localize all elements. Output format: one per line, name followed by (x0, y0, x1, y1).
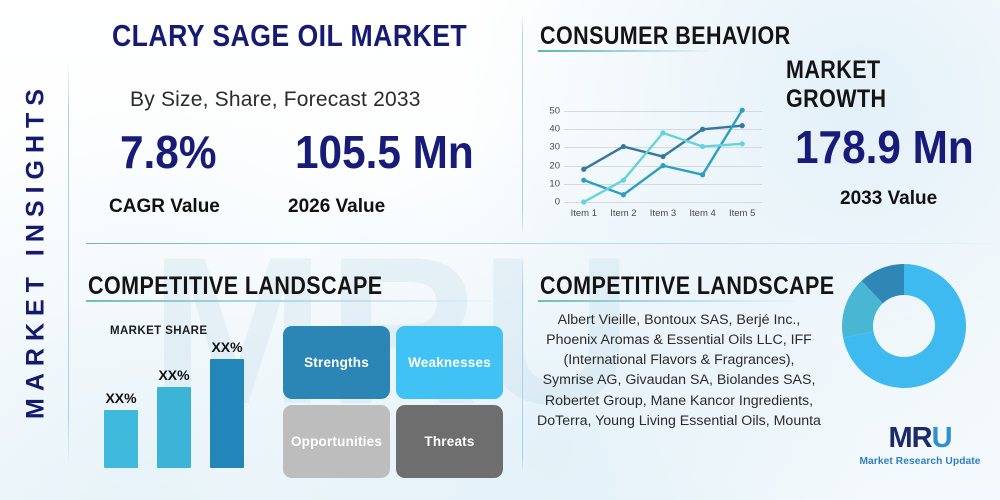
logo-wordmark: MRU (852, 424, 988, 453)
cagr-label: CAGR Value (109, 196, 220, 218)
logo-mark-dark: MR (888, 422, 931, 454)
page-subtitle: By Size, Share, Forecast 2033 (130, 88, 421, 112)
data-point (621, 192, 626, 197)
mru-logo: MRU Market Research Update (852, 424, 988, 467)
bar-value-label: XX% (150, 367, 198, 383)
data-point (581, 167, 586, 172)
bar-value-label: XX% (203, 339, 251, 355)
consumer-behavior-line-chart: 01020304050Item 1Item 2Item 3Item 4Item … (540, 96, 770, 224)
vertical-divider-bottom (522, 262, 523, 474)
market-insights-rail-label: MARKET INSIGHTS (22, 51, 51, 451)
consumer-behavior-underline (538, 50, 710, 52)
competitive-landscape-left-underline (86, 300, 492, 302)
data-point (621, 178, 626, 183)
bar-value-label: XX% (97, 390, 145, 406)
swot-cell-weaknesses[interactable]: Weaknesses (396, 326, 503, 399)
data-point (660, 130, 665, 135)
data-point (700, 144, 705, 149)
bar (210, 359, 244, 468)
value-2026-label: 2026 Value (288, 196, 385, 218)
data-point (621, 144, 626, 149)
company-list: Albert Vieille, Bontoux SAS, Berjé Inc.,… (536, 310, 822, 431)
market-share-title: MARKET SHARE (110, 325, 207, 337)
data-point (700, 172, 705, 177)
data-point (581, 178, 586, 183)
swot-cell-strengths[interactable]: Strengths (283, 326, 390, 399)
logo-mark-accent: U (932, 422, 952, 454)
horizontal-divider (86, 243, 994, 244)
data-point (660, 163, 665, 168)
swot-cell-opportunities[interactable]: Opportunities (283, 405, 390, 478)
data-point (581, 199, 586, 204)
infographic-canvas: MRU MARKET INSIGHTS CLARY SAGE OIL MARKE… (0, 0, 1000, 500)
section-heading-competitive-landscape-left: COMPETITIVE LANDSCAPE (88, 272, 383, 301)
page-title: CLARY SAGE OIL MARKET (112, 18, 467, 54)
data-point (700, 127, 705, 132)
value-2033: 178.9 Mn (795, 120, 974, 174)
section-heading-consumer-behavior: CONSUMER BEHAVIOR (540, 22, 791, 51)
vertical-divider-top (522, 14, 523, 232)
data-point (740, 141, 745, 146)
section-heading-competitive-landscape-right: COMPETITIVE LANDSCAPE (540, 272, 835, 301)
swot-cell-threats[interactable]: Threats (396, 405, 503, 478)
left-rail-divider (68, 62, 69, 466)
value-2026: 105.5 Mn (295, 125, 474, 179)
line-series (584, 110, 742, 195)
data-point (740, 108, 745, 113)
cagr-value: 7.8% (120, 125, 216, 179)
swot-grid: StrengthsWeaknessesOpportunitiesThreats (283, 326, 503, 478)
data-point (660, 154, 665, 159)
bar (104, 410, 138, 468)
competitive-landscape-right-underline (538, 300, 794, 302)
bar (157, 387, 191, 468)
data-point (740, 123, 745, 128)
logo-subtitle: Market Research Update (852, 456, 988, 467)
value-2033-label: 2033 Value (840, 188, 937, 210)
market-share-bar-chart: XX%XX%XX% (104, 340, 264, 468)
section-heading-market-growth: MARKET GROWTH (786, 56, 970, 114)
market-share-donut-chart (840, 262, 968, 390)
